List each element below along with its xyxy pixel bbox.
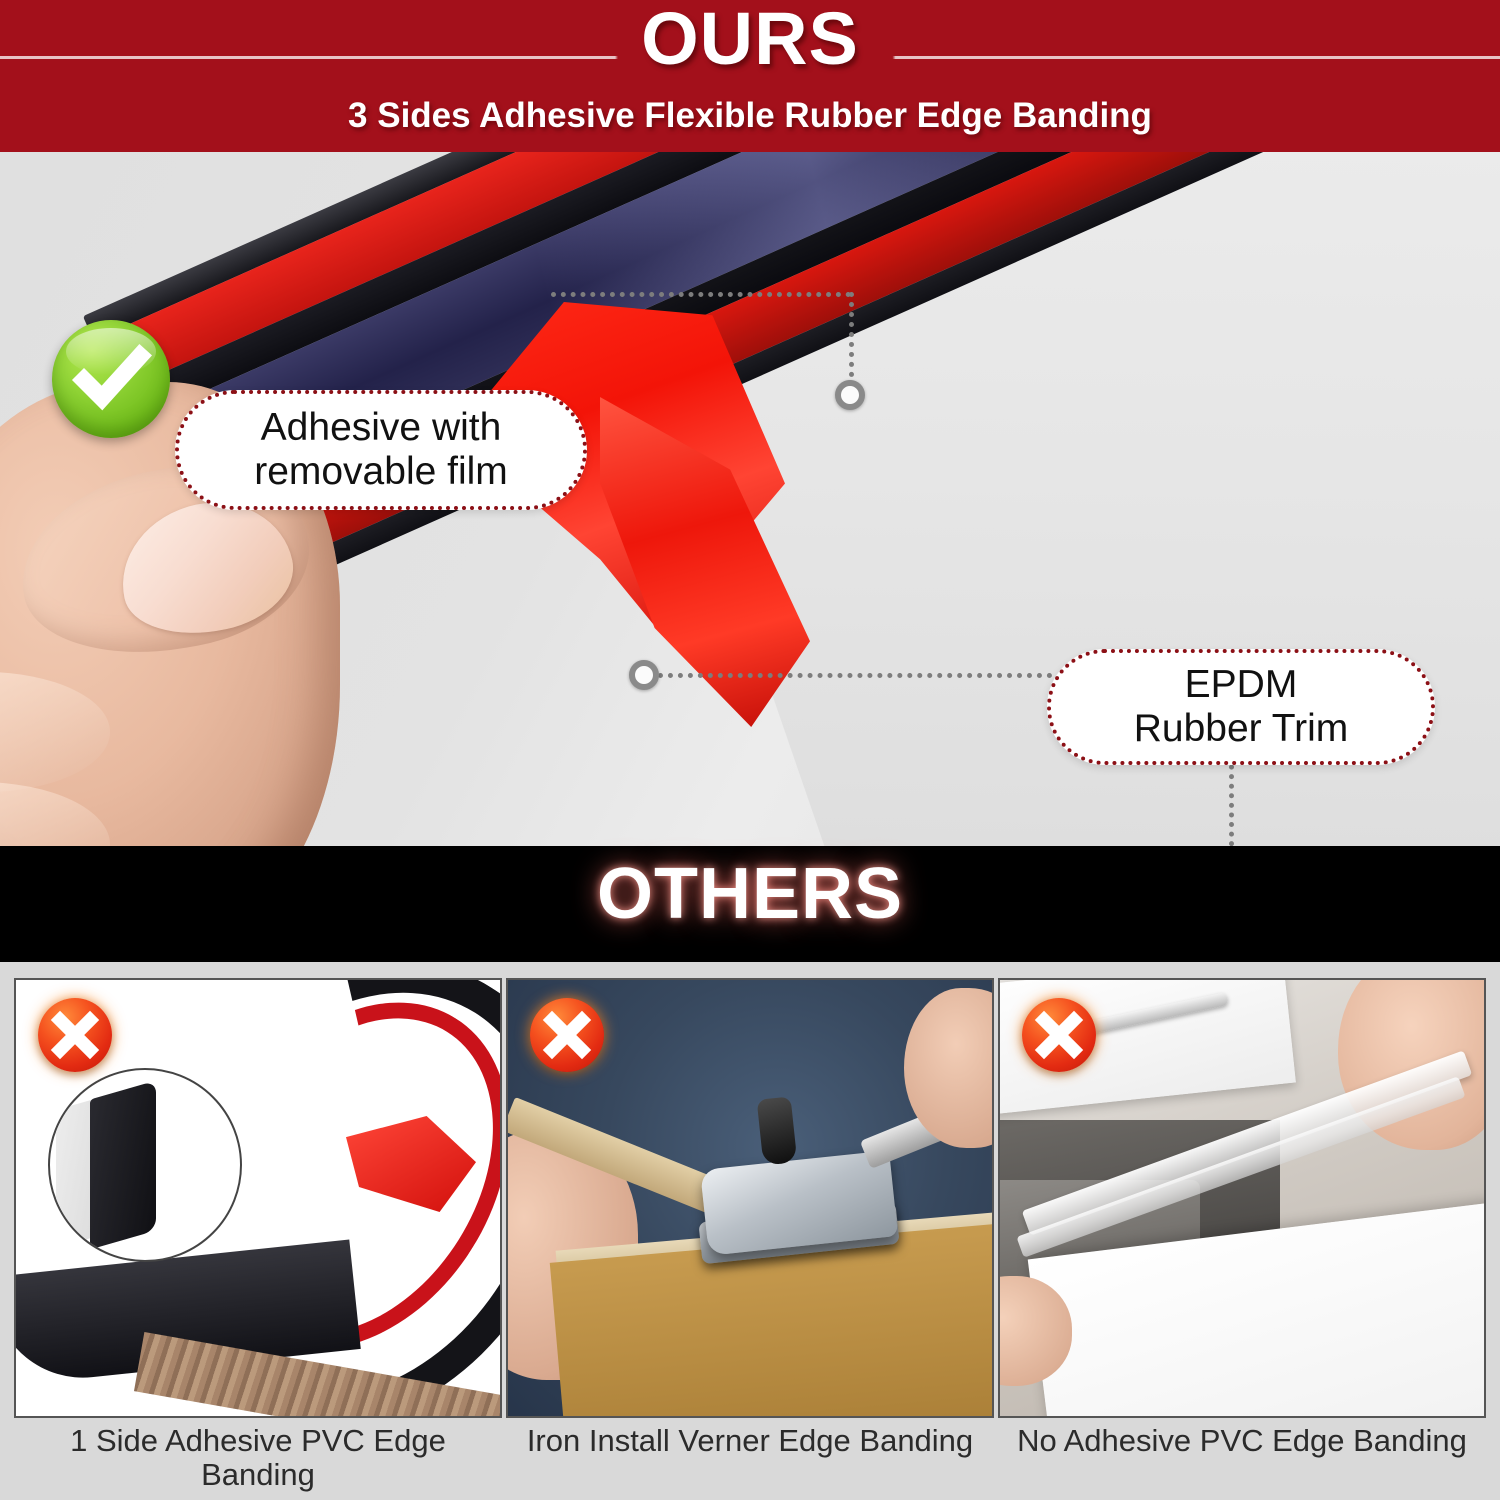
panel-caption-1: 1 Side Adhesive PVC Edge Banding [14, 1424, 502, 1492]
profile-cross-section [90, 1081, 156, 1250]
callout-epdm-line2: Rubber Trim [1134, 707, 1349, 750]
panel-caption-2: Iron Install Verner Edge Banding [506, 1424, 994, 1458]
others-panel-1-side-adhesive-pvc [14, 978, 502, 1418]
product-comparison-infographic: OURS 3 Sides Adhesive Flexible Rubber Ed… [0, 0, 1500, 1500]
ours-header-band: OURS 3 Sides Adhesive Flexible Rubber Ed… [0, 0, 1500, 152]
x-circle-icon [38, 998, 112, 1072]
leader-line-epdm-vertical [1229, 755, 1234, 846]
x-circle-icon [530, 998, 604, 1072]
callout-adhesive: Adhesive with removable film [175, 390, 587, 510]
leader-line-adhesive-vertical [849, 292, 854, 387]
knuckle [0, 782, 110, 846]
endpoint-marker-epdm [629, 660, 659, 690]
others-title: OTHERS [0, 858, 1500, 930]
others-header-band: OTHERS [0, 846, 1500, 962]
leader-line-adhesive-horizontal [551, 292, 851, 297]
others-panel-iron-install-verner [506, 978, 994, 1418]
callout-epdm: EPDM Rubber Trim [1047, 649, 1435, 765]
others-panel-no-adhesive-pvc [998, 978, 1486, 1418]
others-panel-row: 1 Side Adhesive PVC Edge Banding Iron In… [0, 962, 1500, 1500]
profile-detail-inset [48, 1068, 242, 1262]
check-circle-icon [52, 320, 170, 438]
endpoint-marker-adhesive [835, 380, 865, 410]
callout-adhesive-line1: Adhesive with [261, 406, 502, 449]
ours-product-photo: Adhesive with removable film EPDM Rubber… [0, 152, 1500, 846]
callout-epdm-text: EPDM Rubber Trim [1134, 663, 1349, 750]
panel-caption-3: No Adhesive PVC Edge Banding [998, 1424, 1486, 1458]
ours-title: OURS [0, 2, 1500, 76]
knuckle [0, 672, 110, 792]
iron-knob [757, 1096, 798, 1165]
callout-adhesive-text: Adhesive with removable film [254, 406, 508, 493]
x-circle-icon [1022, 998, 1096, 1072]
ours-subtitle: 3 Sides Adhesive Flexible Rubber Edge Ba… [0, 98, 1500, 133]
callout-adhesive-line2: removable film [254, 450, 508, 493]
callout-epdm-line1: EPDM [1185, 663, 1298, 706]
